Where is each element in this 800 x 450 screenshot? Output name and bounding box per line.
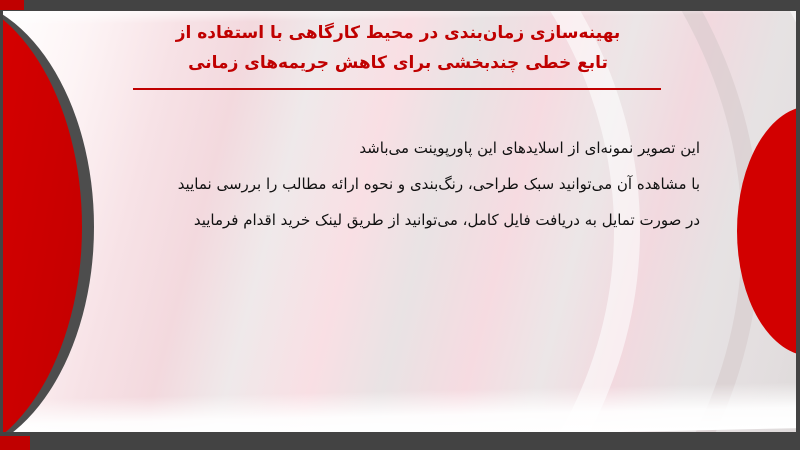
presentation-slide: بهینه‌سازی زمان‌بندی در محیط کارگاهی با … [0,0,800,450]
red-ellipse-bottom-bleed [0,436,30,450]
body-line-1: این تصویر نمونه‌ای از اسلایدهای این پاور… [120,130,700,166]
frame-top-band [0,0,800,11]
title-line-1: بهینه‌سازی زمان‌بندی در محیط کارگاهی با … [118,18,678,48]
red-ellipse-top-bleed [0,0,24,10]
slide-title: بهینه‌سازی زمان‌بندی در محیط کارگاهی با … [118,18,678,78]
body-line-2: با مشاهده آن می‌توانید سبک طراحی، رنگ‌بن… [120,166,700,202]
body-line-3: در صورت تمایل به دریافت فایل کامل، می‌تو… [120,202,700,238]
slide-body-text: این تصویر نمونه‌ای از اسلایدهای این پاور… [120,130,700,238]
slide-content-panel: بهینه‌سازی زمان‌بندی در محیط کارگاهی با … [0,10,800,434]
frame-right-edge [796,0,800,450]
title-line-2: تابع خطی چندبخشی برای کاهش جریمه‌های زما… [118,48,678,78]
frame-left-edge [0,0,3,450]
title-underline [133,88,661,90]
frame-bottom-band [0,432,800,450]
